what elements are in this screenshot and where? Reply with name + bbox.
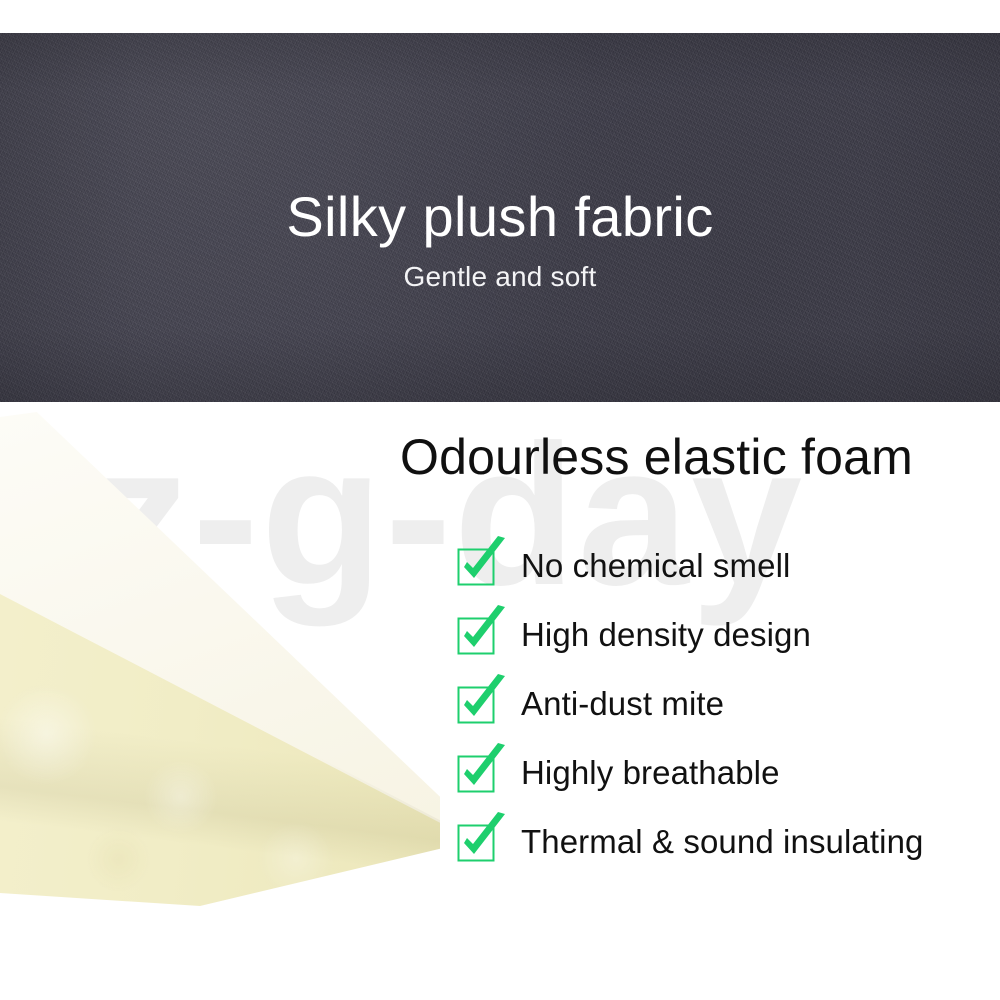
checkbox-checked-icon: [458, 547, 495, 584]
feature-label: Anti-dust mite: [521, 685, 724, 723]
checkbox-checked-icon: [458, 616, 495, 653]
feature-label: High density design: [521, 616, 811, 654]
feature-item: High density design: [458, 600, 1000, 669]
fabric-subheadline: Gentle and soft: [0, 247, 1000, 293]
fabric-section: Silky plush fabric Gentle and soft: [0, 33, 1000, 402]
feature-label: Thermal & sound insulating: [521, 823, 923, 861]
product-feature-banner: Silky plush fabric Gentle and soft oz-g-…: [0, 0, 1000, 1000]
feature-item: Highly breathable: [458, 738, 1000, 807]
fabric-copy-block: Silky plush fabric Gentle and soft: [0, 33, 1000, 293]
feature-label: No chemical smell: [521, 547, 790, 585]
foam-block-image: [0, 412, 440, 932]
feature-item: No chemical smell: [458, 531, 1000, 600]
foam-section: oz-g-day Odourless elastic foam No che: [0, 402, 1000, 1000]
checkbox-checked-icon: [458, 823, 495, 860]
feature-copy-block: Odourless elastic foam No chemical smell: [400, 430, 1000, 876]
feature-item: Anti-dust mite: [458, 669, 1000, 738]
fabric-headline: Silky plush fabric: [0, 33, 1000, 247]
foam-title: Odourless elastic foam: [400, 430, 1000, 485]
feature-item: Thermal & sound insulating: [458, 807, 1000, 876]
feature-label: Highly breathable: [521, 754, 780, 792]
checkbox-checked-icon: [458, 754, 495, 791]
feature-list: No chemical smell High density design: [400, 485, 1000, 876]
checkbox-checked-icon: [458, 685, 495, 722]
